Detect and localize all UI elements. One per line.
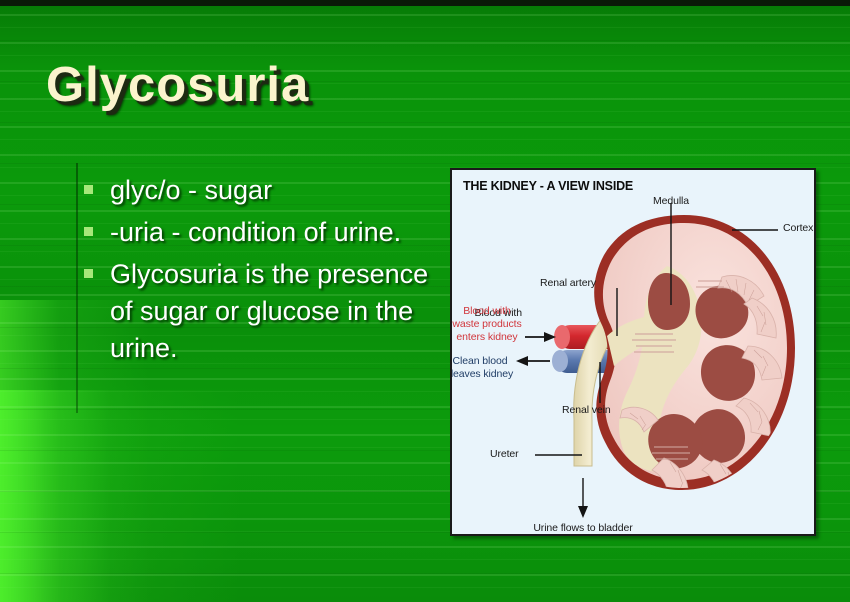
urine-flow-arrowhead xyxy=(578,506,588,518)
label-renal-vein: Renal vein xyxy=(562,404,611,416)
top-dark-band xyxy=(0,0,850,6)
kidney-illustration xyxy=(452,170,814,534)
list-item: glyc/o - sugar xyxy=(84,172,434,209)
content-divider xyxy=(76,163,78,413)
label-blood-out-1: Clean blood xyxy=(450,355,514,367)
bullet-text: Glycosuria is the presence of sugar or g… xyxy=(110,256,434,367)
label-medulla: Medulla xyxy=(638,195,704,207)
blood-out-arrow xyxy=(516,356,550,366)
square-bullet-icon xyxy=(84,227,93,236)
label-cortex: Cortex xyxy=(783,222,813,234)
kidney-diagram: THE KIDNEY - A VIEW INSIDE xyxy=(450,168,816,536)
square-bullet-icon xyxy=(84,185,93,194)
label-renal-artery: Renal artery xyxy=(540,277,596,289)
list-item: -uria - condition of urine. xyxy=(84,214,434,251)
blood-in-arrow xyxy=(525,332,556,342)
label-blood-in-1: Blood with xyxy=(452,305,522,317)
bullet-text: -uria - condition of urine. xyxy=(110,214,434,251)
bullet-text: glyc/o - sugar xyxy=(110,172,434,209)
label-blood-out-2: leaves kidney xyxy=(450,368,518,380)
list-item: Glycosuria is the presence of sugar or g… xyxy=(84,256,434,367)
label-urine-flow: Urine flows to bladder xyxy=(513,522,653,534)
slide-title: Glycosuria xyxy=(46,57,309,113)
bullet-list: glyc/o - sugar -uria - condition of urin… xyxy=(84,172,434,372)
label-ureter: Ureter xyxy=(490,448,519,460)
slide-canvas: Glycosuria glyc/o - sugar -uria - condit… xyxy=(0,0,850,602)
kidney-body xyxy=(594,215,795,498)
label-blood-in-2: waste products xyxy=(450,318,526,330)
square-bullet-icon xyxy=(84,269,93,278)
label-blood-in-3: enters kidney xyxy=(450,331,524,343)
